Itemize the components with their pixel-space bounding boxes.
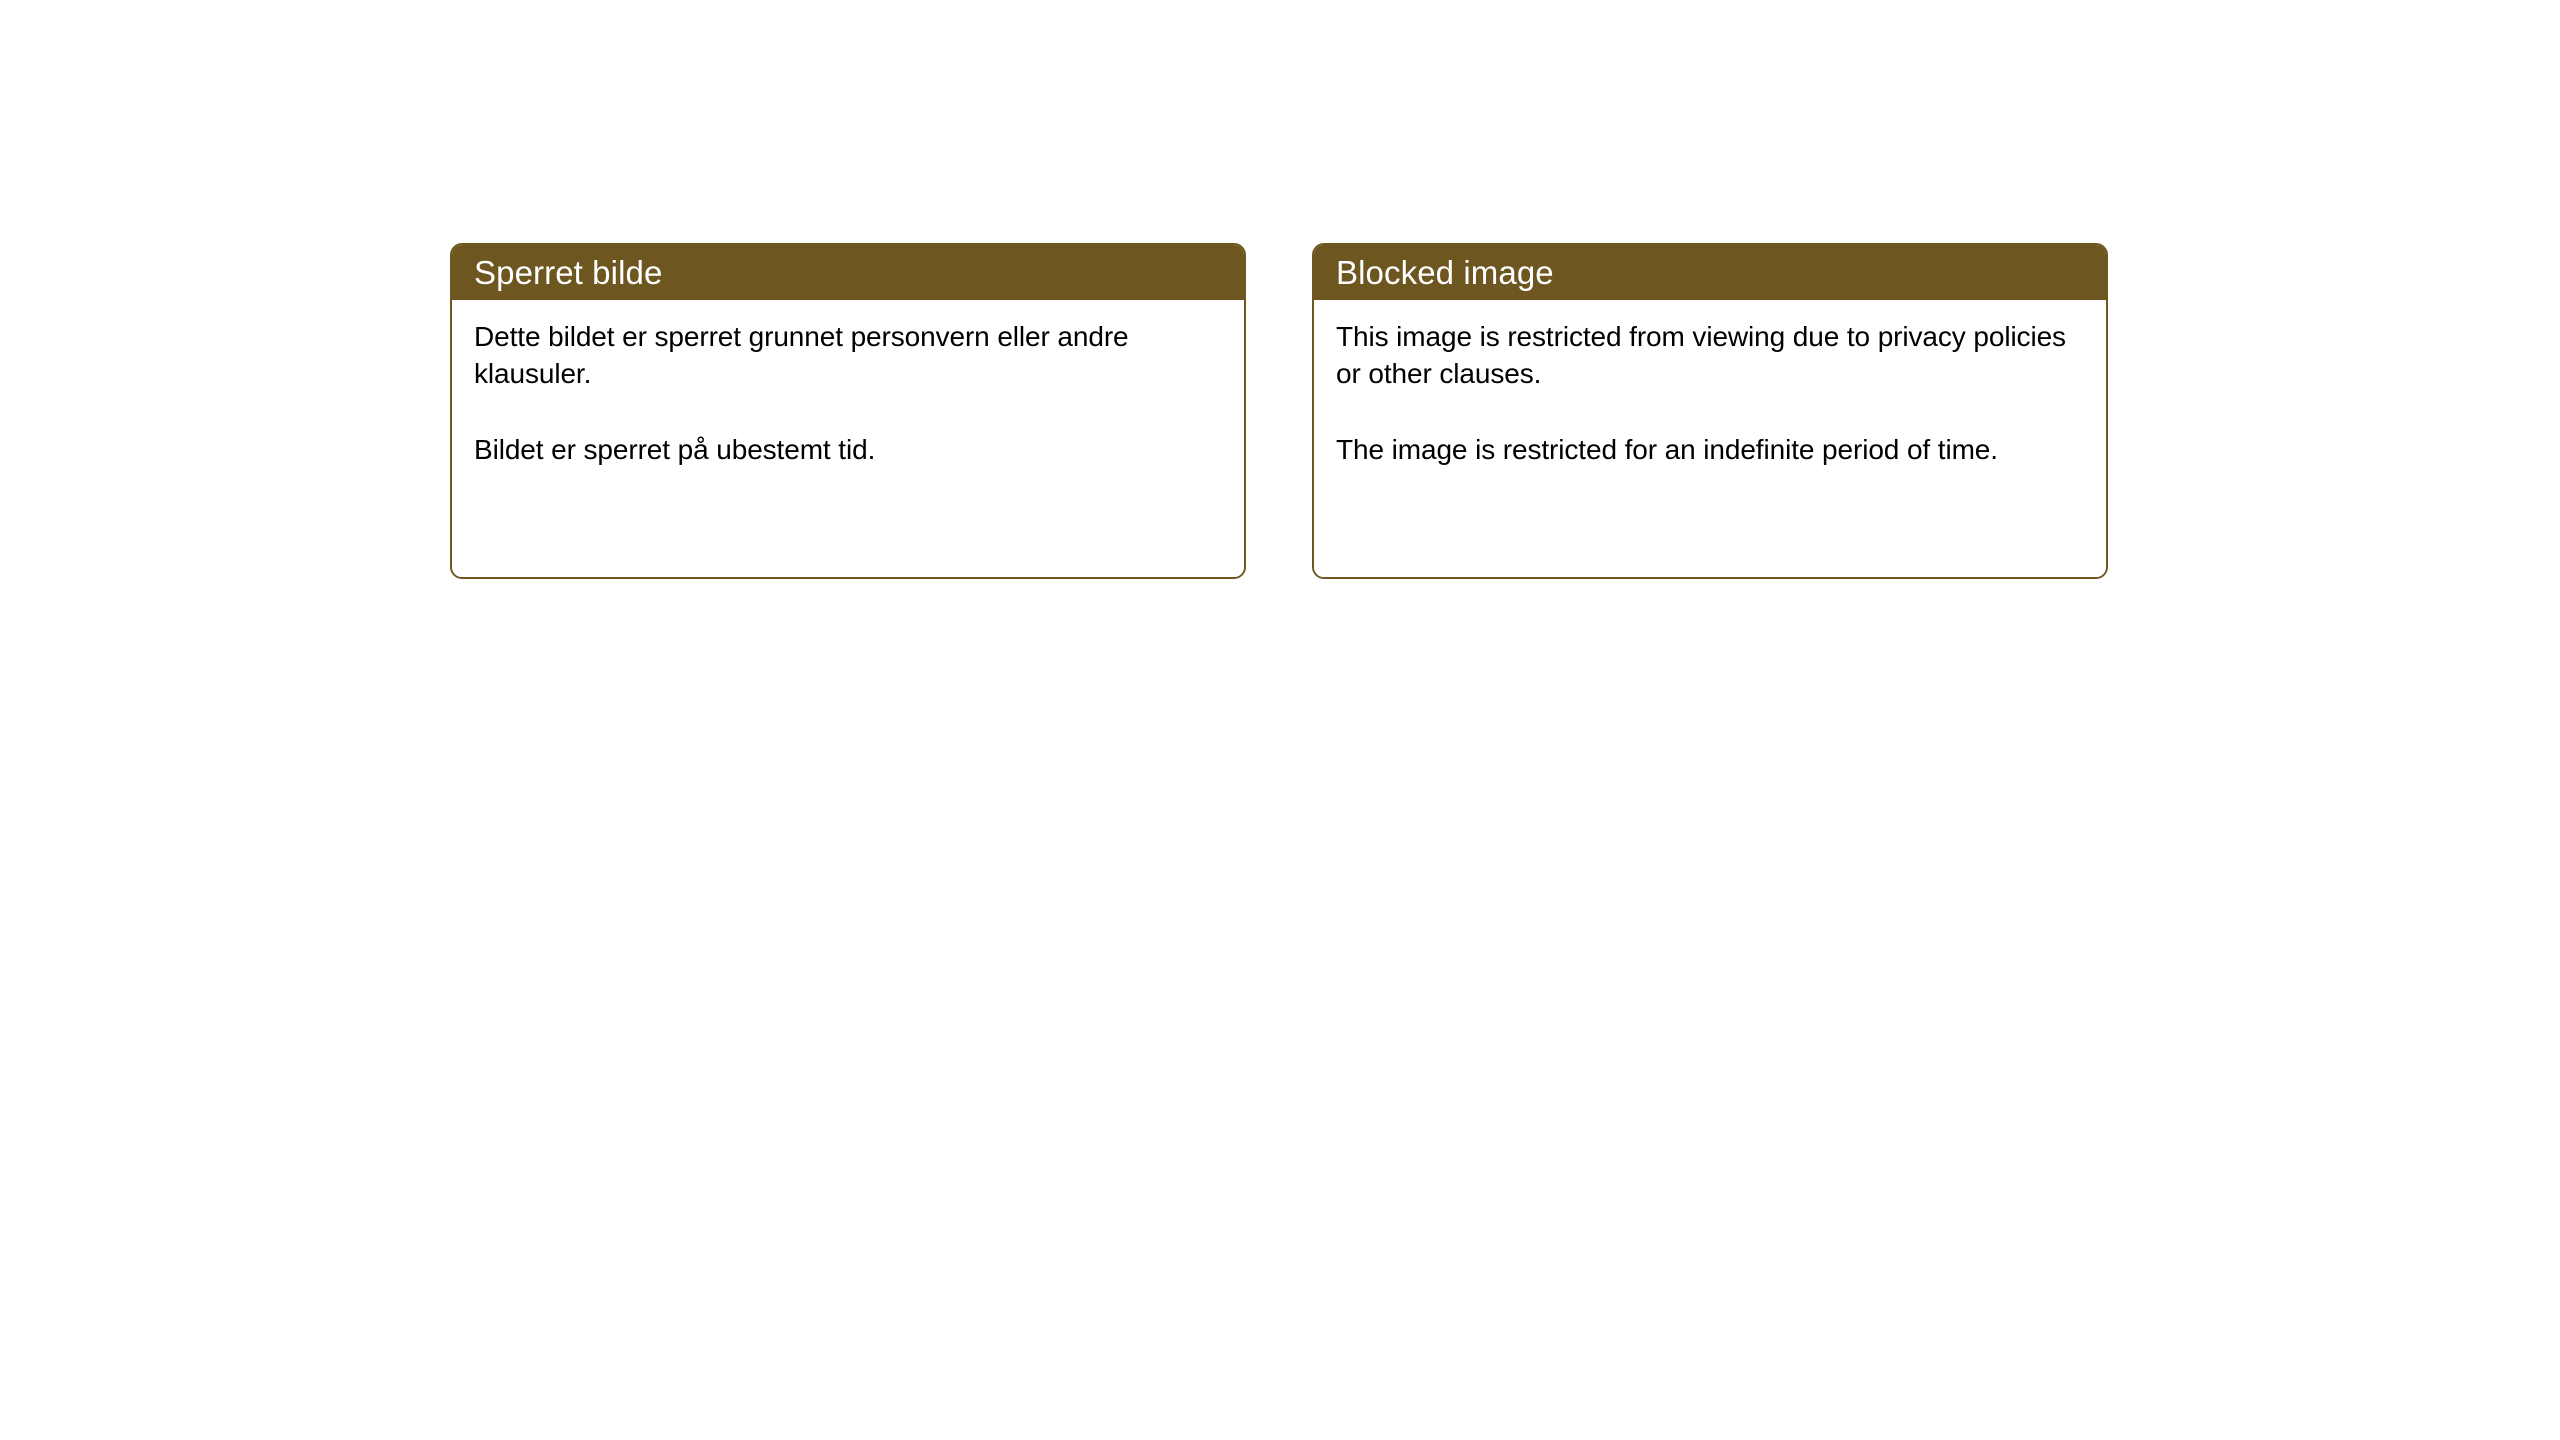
blocked-image-notice-card-english: Blocked image This image is restricted f… <box>1312 243 2108 579</box>
card-paragraph-primary-norwegian: Dette bildet er sperret grunnet personve… <box>474 318 1224 392</box>
paragraph-spacer <box>474 392 1224 431</box>
paragraph-spacer <box>1336 392 2086 431</box>
card-title-norwegian: Sperret bilde <box>474 256 662 289</box>
blocked-image-notice-card-norwegian: Sperret bilde Dette bildet er sperret gr… <box>450 243 1246 579</box>
card-body-norwegian: Dette bildet er sperret grunnet personve… <box>452 300 1244 577</box>
card-paragraph-secondary-norwegian: Bildet er sperret på ubestemt tid. <box>474 431 1224 468</box>
card-body-english: This image is restricted from viewing du… <box>1314 300 2106 577</box>
card-paragraph-secondary-english: The image is restricted for an indefinit… <box>1336 431 2086 468</box>
card-header-english: Blocked image <box>1314 245 2106 300</box>
card-title-english: Blocked image <box>1336 256 1554 289</box>
page-canvas: Sperret bilde Dette bildet er sperret gr… <box>0 0 2560 1440</box>
card-paragraph-primary-english: This image is restricted from viewing du… <box>1336 318 2086 392</box>
card-header-norwegian: Sperret bilde <box>452 245 1244 300</box>
